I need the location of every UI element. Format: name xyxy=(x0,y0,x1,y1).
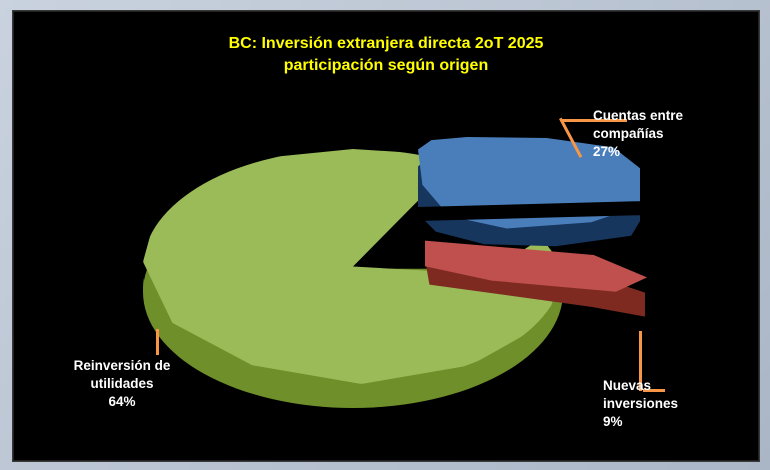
chart-plot-area: BC: Inversión extranjera directa 2oT 202… xyxy=(12,10,760,462)
pie-label-reinversion: Reinversión de utilidades 64% xyxy=(27,357,217,411)
leader-line-reinversion-vertical xyxy=(156,329,159,355)
chart-frame: BC: Inversión extranjera directa 2oT 202… xyxy=(0,0,770,470)
pie-label-nuevas: Nuevas inversiones 9% xyxy=(603,377,743,431)
pie-label-cuentas: Cuentas entre compañías 27% xyxy=(593,107,743,161)
